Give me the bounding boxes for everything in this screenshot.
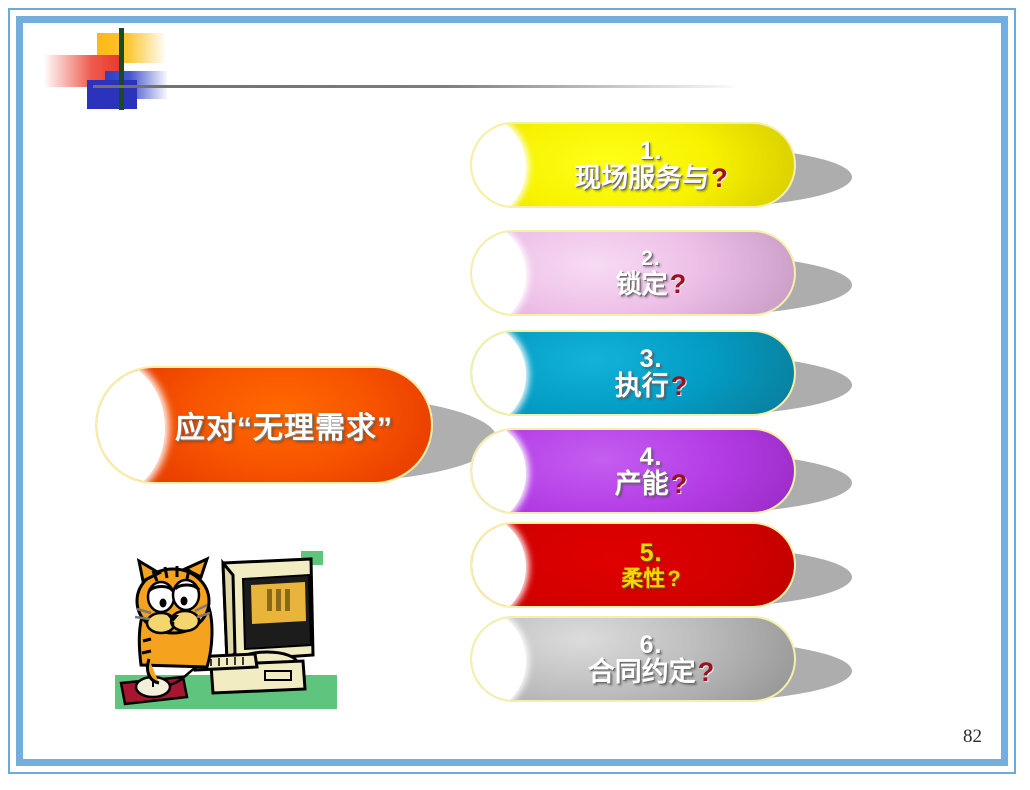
ribbon-notch xyxy=(470,230,526,316)
ribbon-body xyxy=(470,330,796,416)
ribbon-item-2[interactable]: 2. 锁定? xyxy=(470,230,796,316)
logo-horizontal-rule xyxy=(93,85,733,88)
logo-vertical-line xyxy=(119,28,124,110)
ribbon-item-4[interactable]: 4. 产能? xyxy=(470,428,796,514)
ribbon-notch xyxy=(470,616,526,702)
ribbon-notch xyxy=(470,522,526,608)
ribbon-body xyxy=(470,230,796,316)
ribbon-item-1[interactable]: 1. 现场服务与? xyxy=(470,122,796,208)
ribbon-notch xyxy=(470,122,526,208)
page-number: 82 xyxy=(963,726,982,748)
ribbon-body xyxy=(470,616,796,702)
ribbon-body xyxy=(470,428,796,514)
callout-notch xyxy=(95,366,165,484)
garfield-at-computer-illustration xyxy=(115,537,337,709)
callout-body xyxy=(95,366,433,484)
ribbon-notch xyxy=(470,330,526,416)
callout-unreasonable-demands[interactable]: 应对“无理需求” xyxy=(95,366,433,484)
ribbon-item-5[interactable]: 5. 柔性? xyxy=(470,522,796,608)
ribbon-notch xyxy=(470,428,526,514)
ribbon-body xyxy=(470,522,796,608)
ribbon-item-3[interactable]: 3. 执行? xyxy=(470,330,796,416)
ribbon-item-6[interactable]: 6. 合同约定? xyxy=(470,616,796,702)
slide-frame: 应对“无理需求” 1. 现场服务与? 2. 锁定? 3. 执行? xyxy=(0,0,1030,790)
ribbon-body xyxy=(470,122,796,208)
decorative-squares-logo xyxy=(45,28,170,110)
